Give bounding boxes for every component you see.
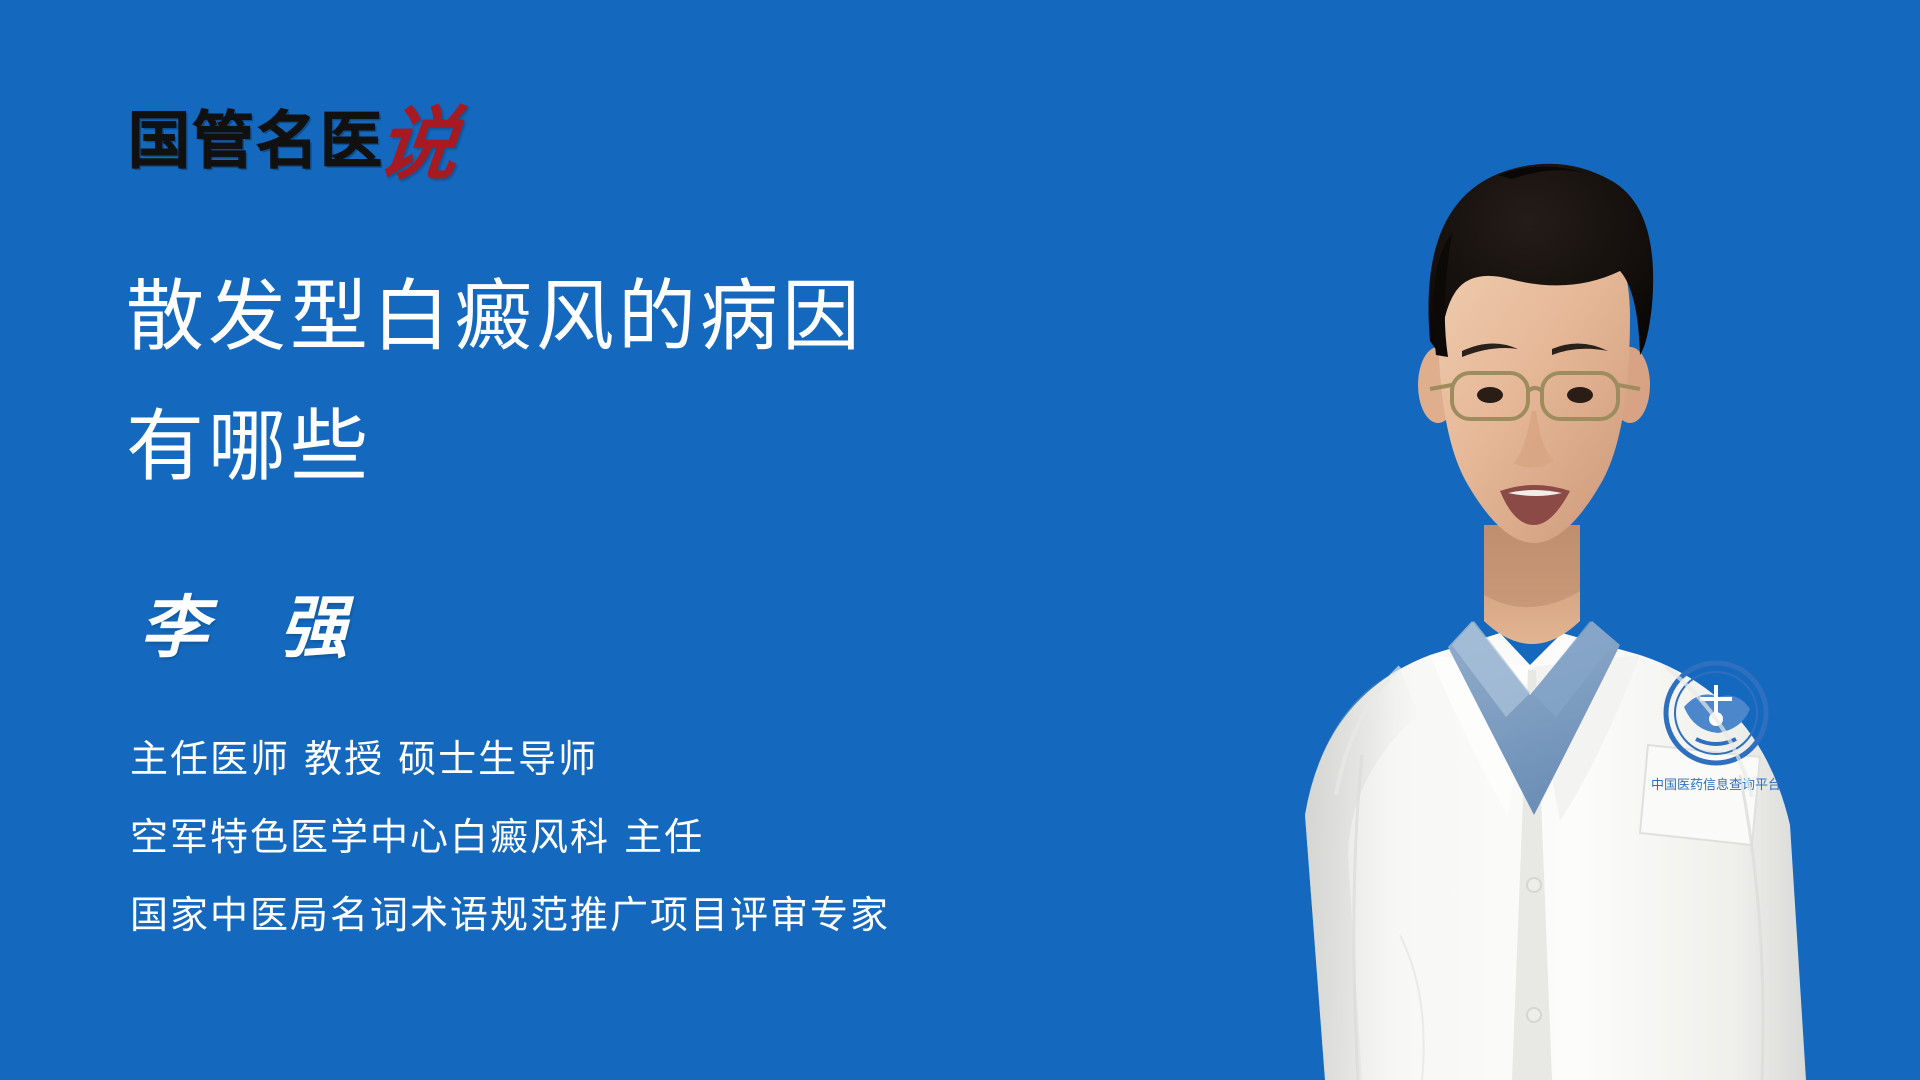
brand-logo-main-text: 国管名医 [128,110,384,172]
doctor-glasses [1430,373,1640,419]
doctor-credentials: 主任医师 教授 硕士生导师 空军特色医学中心白癜风科 主任 国家中医局名词术语规… [130,720,1180,954]
headline-title: 散发型白癜风的病因 有哪些 [126,252,1126,512]
credential-line-2: 空军特色医学中心白癜风科 主任 [130,798,1180,876]
coat-button [1527,1008,1541,1022]
doctor-lab-coat [1305,633,1806,1080]
doctor-ear-left [1418,347,1458,423]
platform-badge: 中国医药信息查询平台 [1651,663,1781,793]
brand-logo-accent-text: 说 [375,112,462,176]
doctor-eye-right [1567,387,1593,403]
doctor-neck [1484,525,1580,644]
video-cover-slide: 国管名医 说 散发型白癜风的病因 有哪些 李 强 主任医师 教授 硕士生导师 空… [0,0,1920,1080]
brand-logo: 国管名医 说 [128,96,458,172]
doctor-eyebrow-left [1462,343,1518,357]
doctor-hair [1428,164,1653,357]
doctor-portrait: 中国医药信息查询平台 [1100,55,1920,1080]
doctor-mouth [1500,485,1570,525]
credential-line-3: 国家中医局名词术语规范推广项目评审专家 [130,876,1180,954]
doctor-nose [1514,411,1554,468]
doctor-ear-right [1610,347,1650,423]
coat-button [1527,878,1541,892]
doctor-eyebrow-right [1552,343,1608,355]
coat-button [1527,748,1541,762]
credential-line-1: 主任医师 教授 硕士生导师 [130,720,1180,798]
headline-line-2: 有哪些 [126,382,1126,512]
doctor-shirt [1448,621,1620,815]
doctor-head [1438,205,1630,543]
doctor-eye-left [1477,387,1503,403]
doctor-name: 李 强 [140,590,372,666]
platform-badge-caption: 中国医药信息查询平台 [1651,777,1781,793]
headline-line-1: 散发型白癜风的病因 [126,252,1126,382]
